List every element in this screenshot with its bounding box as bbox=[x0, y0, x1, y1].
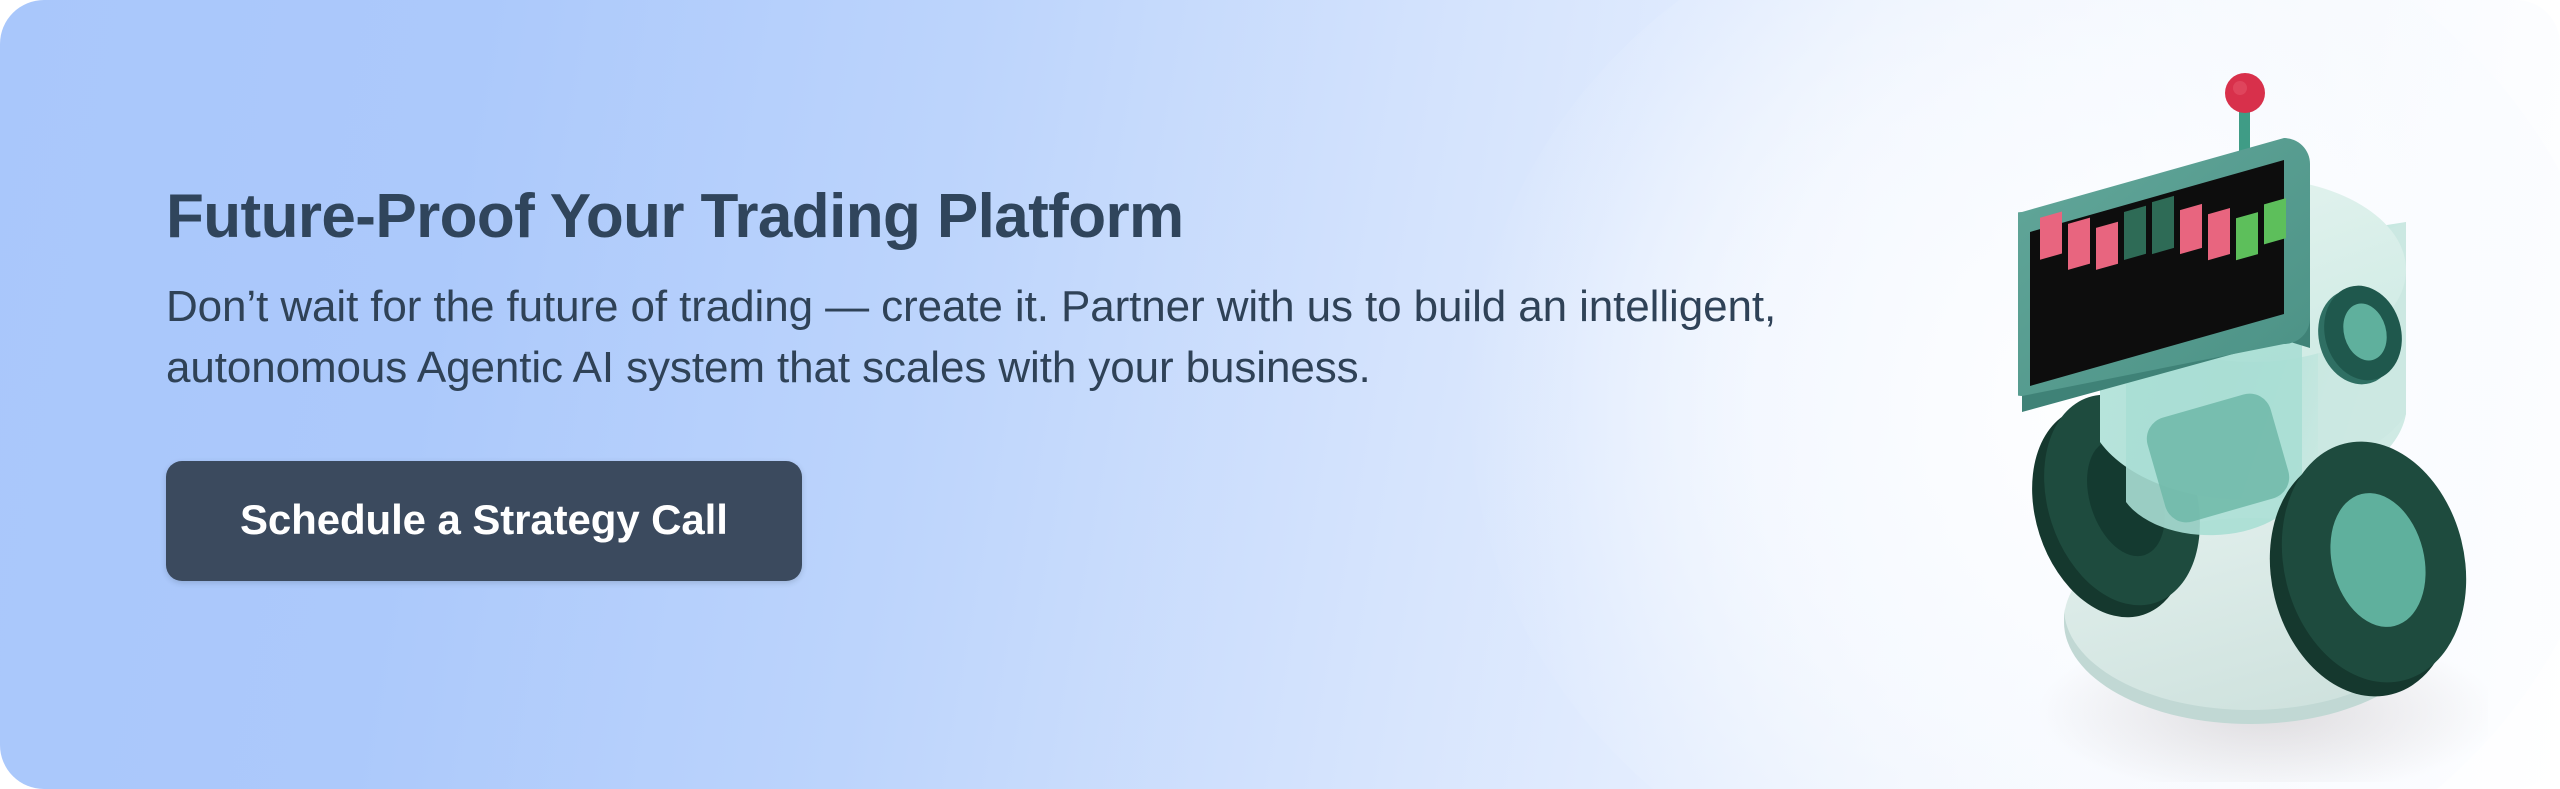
trading-robot-illustration bbox=[2018, 52, 2488, 782]
cta-content: Future-Proof Your Trading Platform Don’t… bbox=[166, 184, 1996, 581]
antenna-icon bbox=[2204, 73, 2286, 279]
candlestick-bars bbox=[2040, 180, 2314, 270]
wheel-rear bbox=[2018, 374, 2226, 637]
cta-description: Don’t wait for the future of trading — c… bbox=[166, 276, 1956, 399]
chart-display-screen bbox=[2018, 138, 2314, 412]
wheel-front bbox=[2245, 422, 2488, 716]
body-panel bbox=[2142, 388, 2295, 527]
schedule-strategy-call-button[interactable]: Schedule a Strategy Call bbox=[166, 461, 802, 581]
side-port-icon bbox=[2307, 276, 2413, 393]
page-title: Future-Proof Your Trading Platform bbox=[166, 184, 1996, 250]
robot-shadow bbox=[2038, 626, 2488, 782]
robot-base bbox=[2064, 518, 2436, 724]
cta-banner: Future-Proof Your Trading Platform Don’t… bbox=[0, 0, 2560, 789]
robot-body bbox=[2100, 178, 2406, 535]
